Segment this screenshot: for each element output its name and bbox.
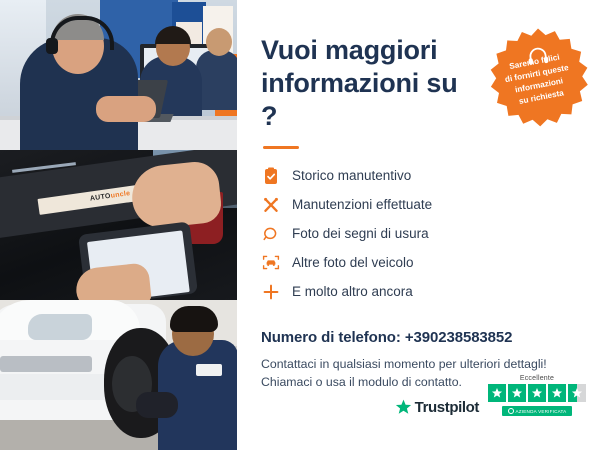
car-inspection-ruler-photo: AUTOuncle — [0, 150, 237, 300]
photo-column: AUTOuncle — [0, 0, 237, 450]
magnifier-icon — [261, 224, 281, 244]
star-5-half — [568, 384, 586, 402]
feature-item-altro: E molto altro ancora — [261, 279, 578, 305]
verified-company-badge: AZIENDA VERIFICATA — [502, 406, 573, 416]
title-underline-divider — [263, 146, 299, 149]
phone-number[interactable]: Numero di telefono: +390238583852 — [261, 329, 578, 346]
trustpilot-rating[interactable]: Trustpilot Eccellente — [395, 375, 586, 416]
trustpilot-wordmark: Trustpilot — [415, 399, 479, 416]
star-4 — [548, 384, 566, 402]
callout-badge: Saremo felici di fornirti queste informa… — [484, 26, 592, 134]
mechanic-wheel-photo — [0, 300, 237, 450]
feature-label: Foto dei segni di usura — [292, 227, 429, 241]
trustpilot-score-block: Eccellente — [488, 375, 586, 416]
trustpilot-star-icon — [395, 399, 412, 416]
feature-item-altre-foto: Altre foto del veicolo — [261, 250, 578, 276]
star-rating — [488, 384, 586, 402]
feature-label: E molto altro ancora — [292, 285, 413, 299]
call-center-agents-photo — [0, 0, 237, 150]
feature-item-foto-usura: Foto dei segni di usura — [261, 221, 578, 247]
feature-item-storico: Storico manutentivo — [261, 163, 578, 189]
feature-label: Altre foto del veicolo — [292, 256, 414, 270]
tools-cross-icon — [261, 195, 281, 215]
verified-label: AZIENDA VERIFICATA — [516, 409, 567, 414]
star-3 — [528, 384, 546, 402]
page-title: Vuoi maggiori informazioni su ? — [261, 34, 476, 133]
feature-label: Manutenzioni effettuate — [292, 198, 432, 212]
clipboard-check-icon — [261, 166, 281, 186]
car-frame-icon — [261, 253, 281, 273]
info-panel: Vuoi maggiori informazioni su ? Storico … — [237, 0, 600, 450]
feature-item-manutenzioni: Manutenzioni effettuate — [261, 192, 578, 218]
check-circle-icon — [508, 408, 514, 414]
trustpilot-logo: Trustpilot — [395, 399, 479, 416]
contact-line-1: Contattaci in qualsiasi momento per ulte… — [261, 355, 578, 373]
feature-list: Storico manutentivo Manutenzioni effettu… — [261, 163, 578, 305]
rating-label: Eccellente — [520, 375, 554, 382]
star-1 — [488, 384, 506, 402]
feature-label: Storico manutentivo — [292, 169, 411, 183]
badge-text: Saremo felici di fornirti queste informa… — [475, 17, 600, 144]
star-2 — [508, 384, 526, 402]
plus-icon — [261, 282, 281, 302]
contact-info-poster: AUTOuncle Vuoi maggiori informazioni su … — [0, 0, 600, 450]
